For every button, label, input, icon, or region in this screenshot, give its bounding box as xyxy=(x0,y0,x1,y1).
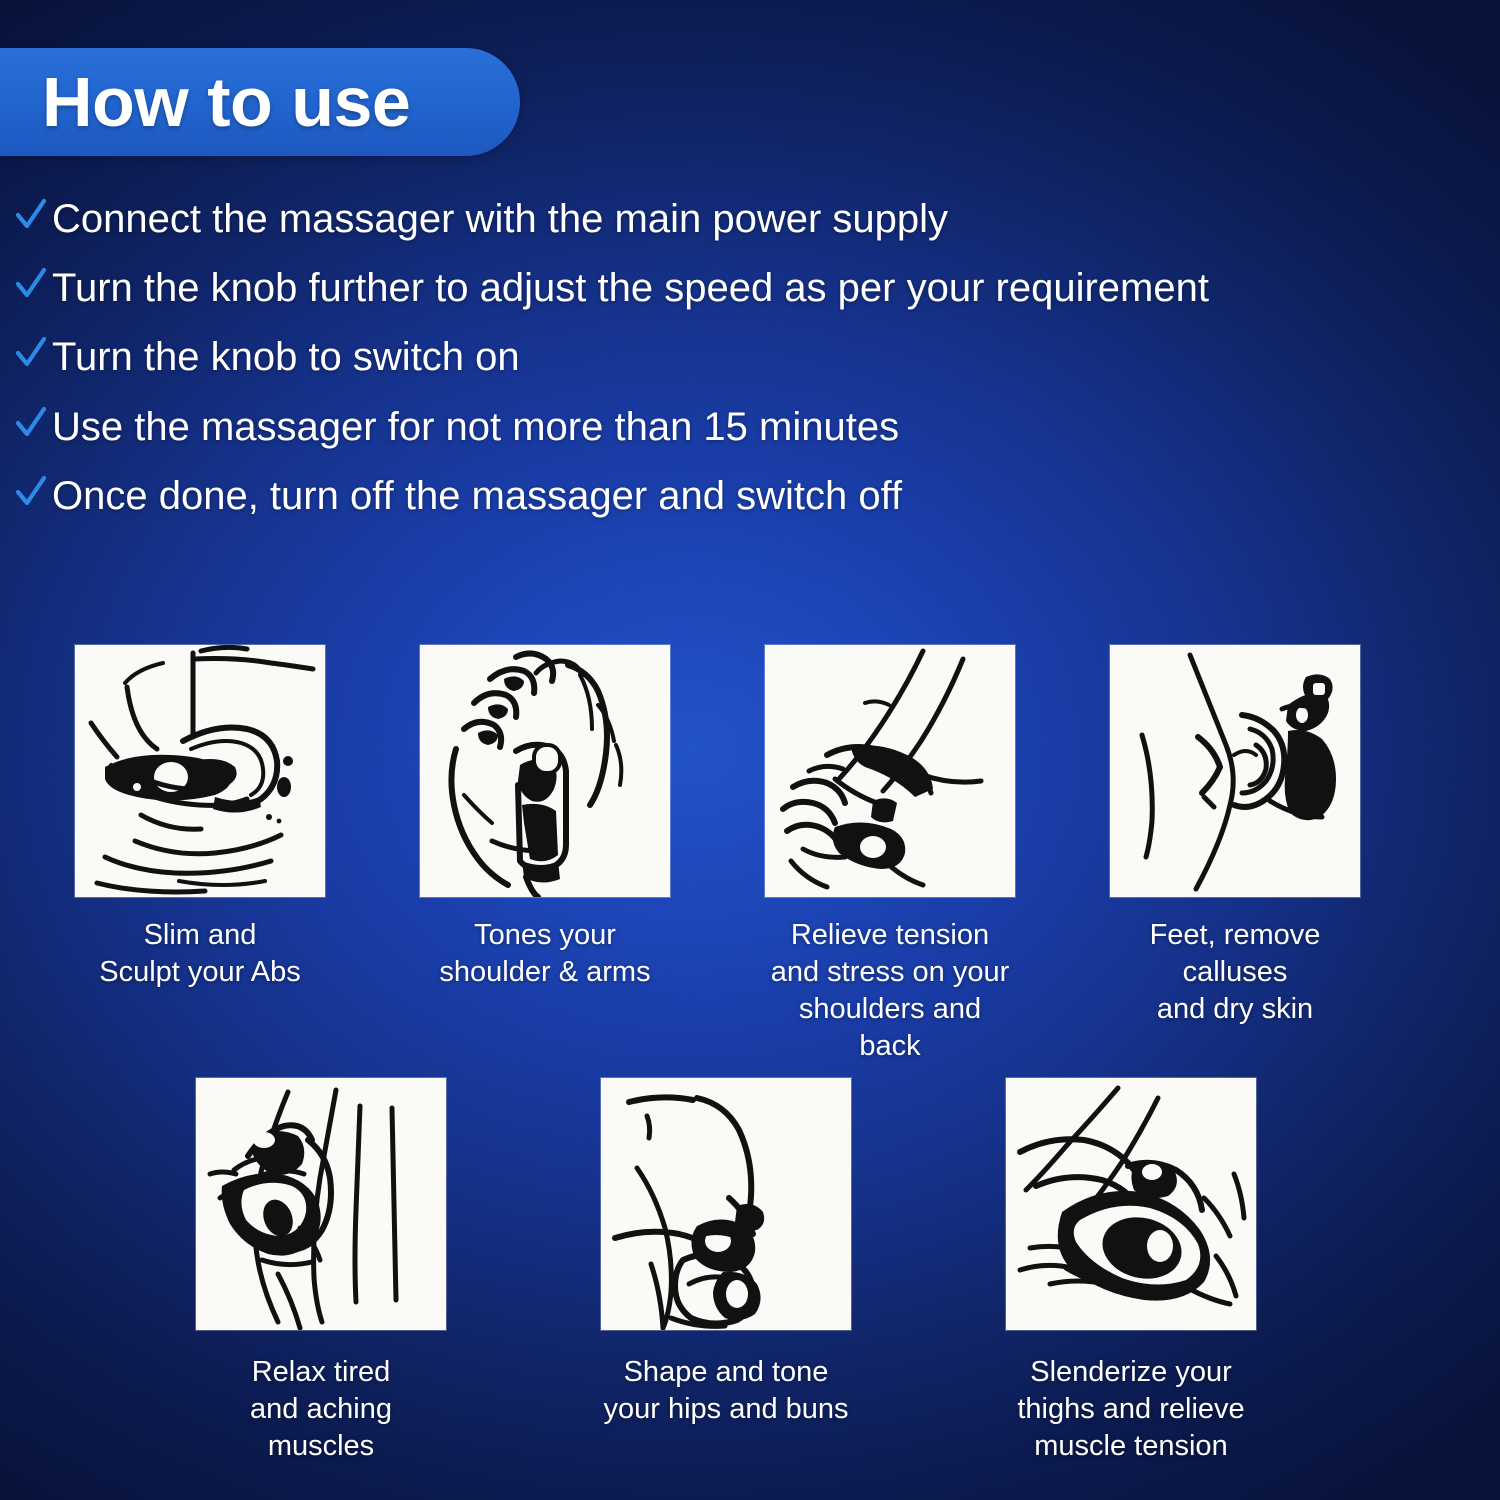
usage-cell: Slenderize your thighs and relieve muscl… xyxy=(1006,1078,1256,1465)
usage-cell: Relax tired and aching muscles xyxy=(196,1078,446,1465)
list-item-label: Turn the knob further to adjust the spee… xyxy=(52,261,1209,316)
instruction-list: Connect the massager with the main power… xyxy=(14,192,1244,538)
list-item: Turn the knob further to adjust the spee… xyxy=(14,261,1244,316)
list-item: Once done, turn off the massager and swi… xyxy=(14,469,1244,524)
usage-grid-row-1: Slim and Sculpt your Abs xyxy=(75,645,1360,1065)
massager-on-abs-illustration xyxy=(75,645,325,897)
check-icon xyxy=(14,261,48,305)
check-icon xyxy=(14,400,48,444)
usage-cell: Relieve tension and stress on your shoul… xyxy=(765,645,1015,1065)
list-item: Turn the knob to switch on xyxy=(14,330,1244,385)
list-item-label: Turn the knob to switch on xyxy=(52,330,520,385)
check-icon xyxy=(14,192,48,236)
list-item-label: Use the massager for not more than 15 mi… xyxy=(52,400,899,455)
list-item: Connect the massager with the main power… xyxy=(14,192,1244,247)
massager-on-thigh-illustration xyxy=(1006,1078,1256,1330)
usage-cell-caption: Slim and Sculpt your Abs xyxy=(99,917,301,991)
usage-cell-caption: Slenderize your thighs and relieve muscl… xyxy=(1017,1354,1244,1465)
usage-cell-caption: Relieve tension and stress on your shoul… xyxy=(765,917,1015,1065)
massager-on-back-illustration xyxy=(765,645,1015,897)
page-title: How to use xyxy=(42,67,410,137)
usage-cell-caption: Shape and tone your hips and buns xyxy=(603,1354,848,1428)
usage-cell: Tones your shoulder & arms xyxy=(420,645,670,1065)
usage-grid-row-2: Relax tired and aching muscles xyxy=(196,1078,1256,1465)
massager-on-leg-illustration xyxy=(196,1078,446,1330)
massager-on-foot-illustration xyxy=(1110,645,1360,897)
massager-on-hip-illustration xyxy=(601,1078,851,1330)
massager-on-shoulder-arm-illustration xyxy=(420,645,670,897)
check-icon xyxy=(14,469,48,513)
infographic-page: How to use Connect the massager with the… xyxy=(0,0,1500,1500)
header-banner: How to use xyxy=(0,48,520,156)
check-icon xyxy=(14,330,48,374)
usage-cell: Shape and tone your hips and buns xyxy=(601,1078,851,1465)
list-item-label: Connect the massager with the main power… xyxy=(52,192,948,247)
usage-cell-caption: Tones your shoulder & arms xyxy=(439,917,650,991)
list-item-label: Once done, turn off the massager and swi… xyxy=(52,469,902,524)
usage-cell: Slim and Sculpt your Abs xyxy=(75,645,325,1065)
usage-cell-caption: Feet, remove calluses and dry skin xyxy=(1110,917,1360,1028)
usage-cell-caption: Relax tired and aching muscles xyxy=(196,1354,446,1465)
list-item: Use the massager for not more than 15 mi… xyxy=(14,400,1244,455)
usage-cell: Feet, remove calluses and dry skin xyxy=(1110,645,1360,1065)
